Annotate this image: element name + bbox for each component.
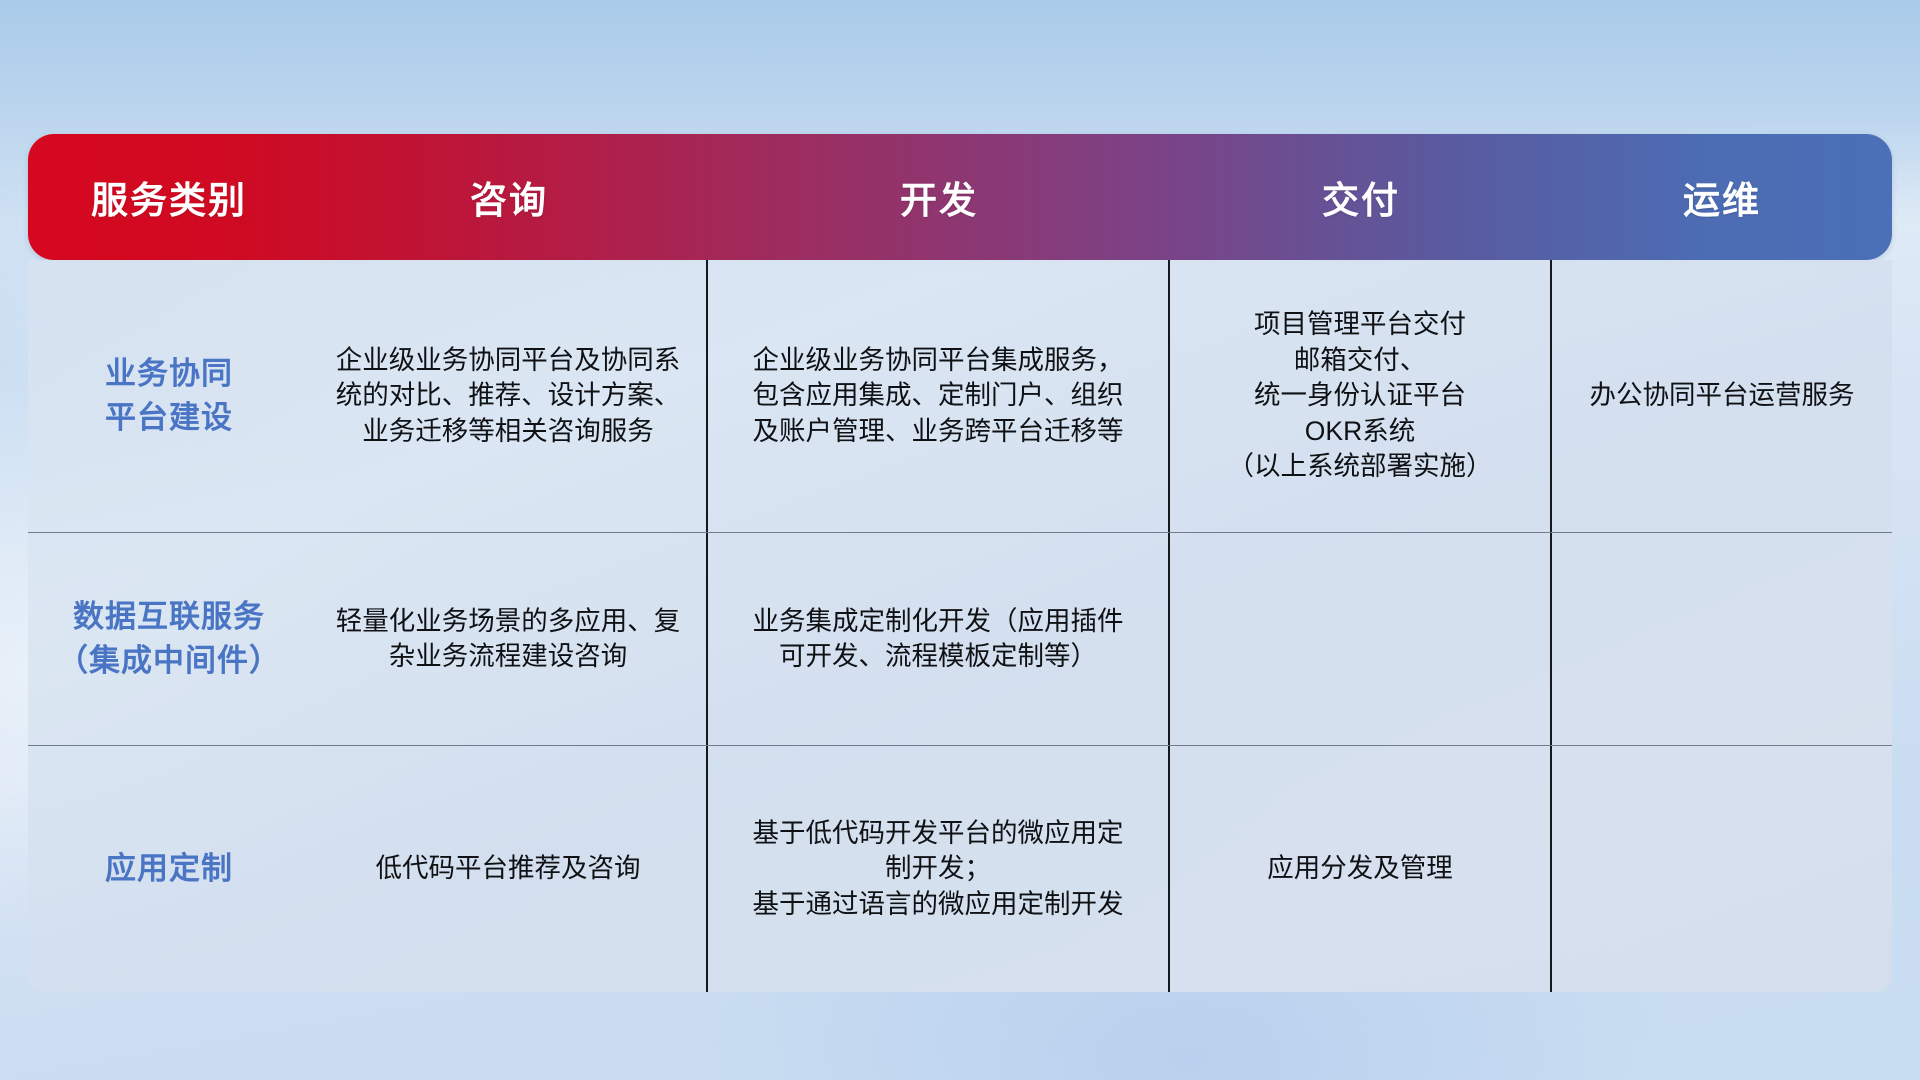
table-body: 业务协同 平台建设 企业级业务协同平台及协同系 统的对比、推荐、设计方案、 业务… — [28, 260, 1892, 992]
row-category-label: 数据互联服务 （集成中间件） — [28, 533, 310, 745]
cell-delivery: 项目管理平台交付 邮箱交付、 统一身份认证平台 OKR系统 （以上系统部署实施） — [1170, 260, 1552, 532]
cell-delivery: 应用分发及管理 — [1170, 746, 1552, 992]
service-matrix-table: 服务类别 咨询 开发 交付 运维 业务协同 平台建设 企业级业务协同平台及协同系… — [28, 134, 1892, 954]
table-row: 业务协同 平台建设 企业级业务协同平台及协同系 统的对比、推荐、设计方案、 业务… — [28, 260, 1892, 533]
cell-consulting: 轻量化业务场景的多应用、复 杂业务流程建设咨询 — [310, 533, 708, 745]
cell-delivery — [1170, 533, 1552, 745]
cell-consulting: 低代码平台推荐及咨询 — [310, 746, 708, 992]
cell-operations — [1552, 746, 1892, 992]
column-header-consulting[interactable]: 咨询 — [310, 134, 708, 260]
table-row: 数据互联服务 （集成中间件） 轻量化业务场景的多应用、复 杂业务流程建设咨询 业… — [28, 533, 1892, 746]
column-header-delivery[interactable]: 交付 — [1170, 134, 1552, 260]
row-category-label: 业务协同 平台建设 — [28, 260, 310, 532]
cell-development: 基于低代码开发平台的微应用定 制开发； 基于通过语言的微应用定制开发 — [708, 746, 1170, 992]
table-row: 应用定制 低代码平台推荐及咨询 基于低代码开发平台的微应用定 制开发； 基于通过… — [28, 746, 1892, 992]
cell-operations: 办公协同平台运营服务 — [1552, 260, 1892, 532]
column-header-category[interactable]: 服务类别 — [28, 134, 310, 260]
cell-operations — [1552, 533, 1892, 745]
row-category-label: 应用定制 — [28, 746, 310, 992]
table-header-row: 服务类别 咨询 开发 交付 运维 — [28, 134, 1892, 260]
cell-development: 业务集成定制化开发（应用插件 可开发、流程模板定制等） — [708, 533, 1170, 745]
column-header-operations[interactable]: 运维 — [1552, 134, 1892, 260]
cell-development: 企业级业务协同平台集成服务， 包含应用集成、定制门户、组织 及账户管理、业务跨平… — [708, 260, 1170, 532]
column-header-development[interactable]: 开发 — [708, 134, 1170, 260]
cell-consulting: 企业级业务协同平台及协同系 统的对比、推荐、设计方案、 业务迁移等相关咨询服务 — [310, 260, 708, 532]
